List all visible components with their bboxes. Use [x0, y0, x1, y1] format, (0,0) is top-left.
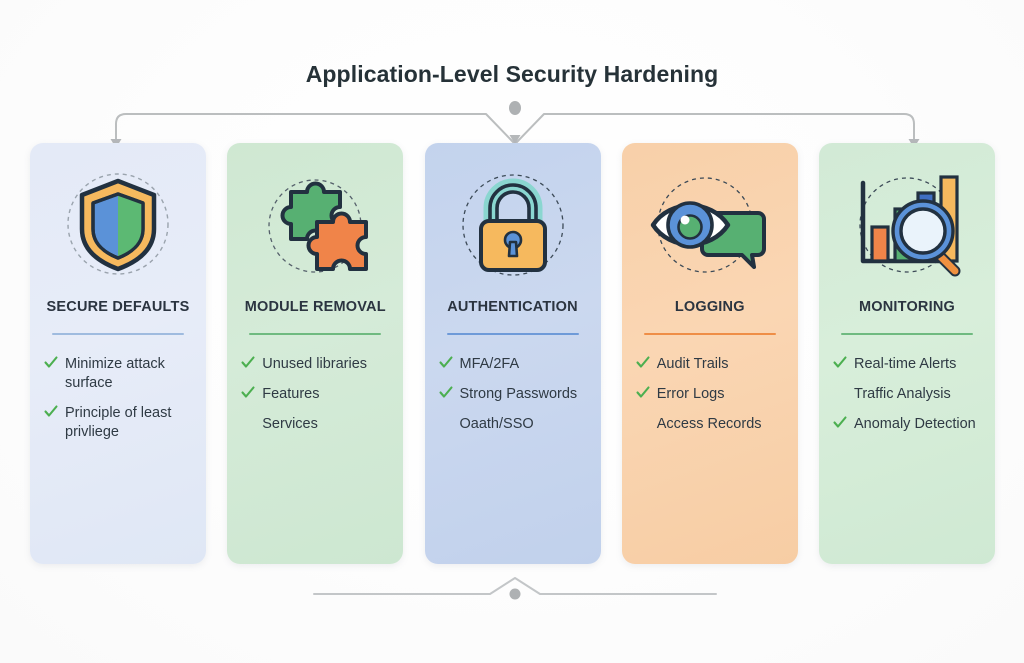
bottom-line-connector: [300, 572, 730, 608]
card-divider: [644, 333, 776, 335]
check-icon-empty: [833, 386, 847, 403]
list-item: Oaath/SSO: [439, 415, 587, 434]
card-authentication[interactable]: AUTHENTICATION MFA/2FA Strong Passwords: [425, 143, 601, 564]
card-logging[interactable]: LOGGING Audit Trails Error Logs: [622, 143, 798, 564]
infographic-canvas: Application-Level Security Hardening SEC…: [0, 0, 1024, 663]
list-item-label: Features: [262, 385, 389, 404]
page-title: Application-Level Security Hardening: [0, 61, 1024, 88]
card-title: AUTHENTICATION: [447, 299, 578, 315]
padlock-icon: [448, 165, 578, 287]
card-bullets: Audit Trails Error Logs Access Records: [622, 355, 798, 434]
shield-icon: [53, 165, 183, 287]
list-item-label: Anomaly Detection: [854, 415, 981, 434]
list-item: Error Logs: [636, 385, 784, 404]
check-icon: [44, 405, 58, 422]
list-item: Principle of least privliege: [44, 404, 192, 442]
list-item: Features: [241, 385, 389, 404]
list-item: Services: [241, 415, 389, 434]
card-bullets: MFA/2FA Strong Passwords Oaath/SSO: [425, 355, 601, 434]
check-icon: [439, 356, 453, 373]
card-divider: [447, 333, 579, 335]
card-module-removal[interactable]: MODULE REMOVAL Unused libraries Features: [227, 143, 403, 564]
card-divider: [249, 333, 381, 335]
list-item-label: Real-time Alerts: [854, 355, 981, 374]
card-bullets: Unused libraries Features Services: [227, 355, 403, 434]
check-icon-empty: [241, 416, 255, 433]
check-icon-empty: [439, 416, 453, 433]
card-title: SECURE DEFAULTS: [47, 299, 190, 315]
check-icon: [833, 416, 847, 433]
list-item-label: Unused libraries: [262, 355, 389, 374]
list-item-label: Error Logs: [657, 385, 784, 404]
check-icon: [439, 386, 453, 403]
card-row: SECURE DEFAULTS Minimize attack surface …: [30, 143, 995, 564]
list-item-label: Strong Passwords: [460, 385, 587, 404]
check-icon: [44, 356, 58, 373]
check-icon: [636, 356, 650, 373]
list-item: Real-time Alerts: [833, 355, 981, 374]
check-icon: [241, 356, 255, 373]
bar-chart-magnifier-icon: [842, 165, 972, 287]
puzzle-pieces-icon: [250, 165, 380, 287]
card-bullets: Real-time Alerts Traffic Analysis Anomal…: [819, 355, 995, 434]
list-item: Strong Passwords: [439, 385, 587, 404]
eye-speech-bubble-icon: [645, 165, 775, 287]
list-item-label: Services: [262, 415, 389, 434]
list-item-label: MFA/2FA: [460, 355, 587, 374]
list-item-label: Minimize attack surface: [65, 355, 192, 393]
list-item-label: Principle of least privliege: [65, 404, 192, 442]
card-title: LOGGING: [675, 299, 745, 315]
list-item: Access Records: [636, 415, 784, 434]
list-item: Minimize attack surface: [44, 355, 192, 393]
list-item-label: Access Records: [657, 415, 784, 434]
list-item-label: Traffic Analysis: [854, 385, 981, 404]
card-title: MONITORING: [859, 299, 955, 315]
card-divider: [841, 333, 973, 335]
list-item: Audit Trails: [636, 355, 784, 374]
check-icon-empty: [636, 416, 650, 433]
card-bullets: Minimize attack surface Principle of lea…: [30, 355, 206, 441]
card-monitoring[interactable]: MONITORING Real-time Alerts Traffic Anal…: [819, 143, 995, 564]
list-item-label: Audit Trails: [657, 355, 784, 374]
card-divider: [52, 333, 184, 335]
check-icon: [241, 386, 255, 403]
check-icon: [833, 356, 847, 373]
list-item-label: Oaath/SSO: [460, 415, 587, 434]
list-item: MFA/2FA: [439, 355, 587, 374]
list-item: Anomaly Detection: [833, 415, 981, 434]
list-item: Unused libraries: [241, 355, 389, 374]
list-item: Traffic Analysis: [833, 385, 981, 404]
card-title: MODULE REMOVAL: [245, 299, 386, 315]
check-icon: [636, 386, 650, 403]
card-secure-defaults[interactable]: SECURE DEFAULTS Minimize attack surface …: [30, 143, 206, 564]
